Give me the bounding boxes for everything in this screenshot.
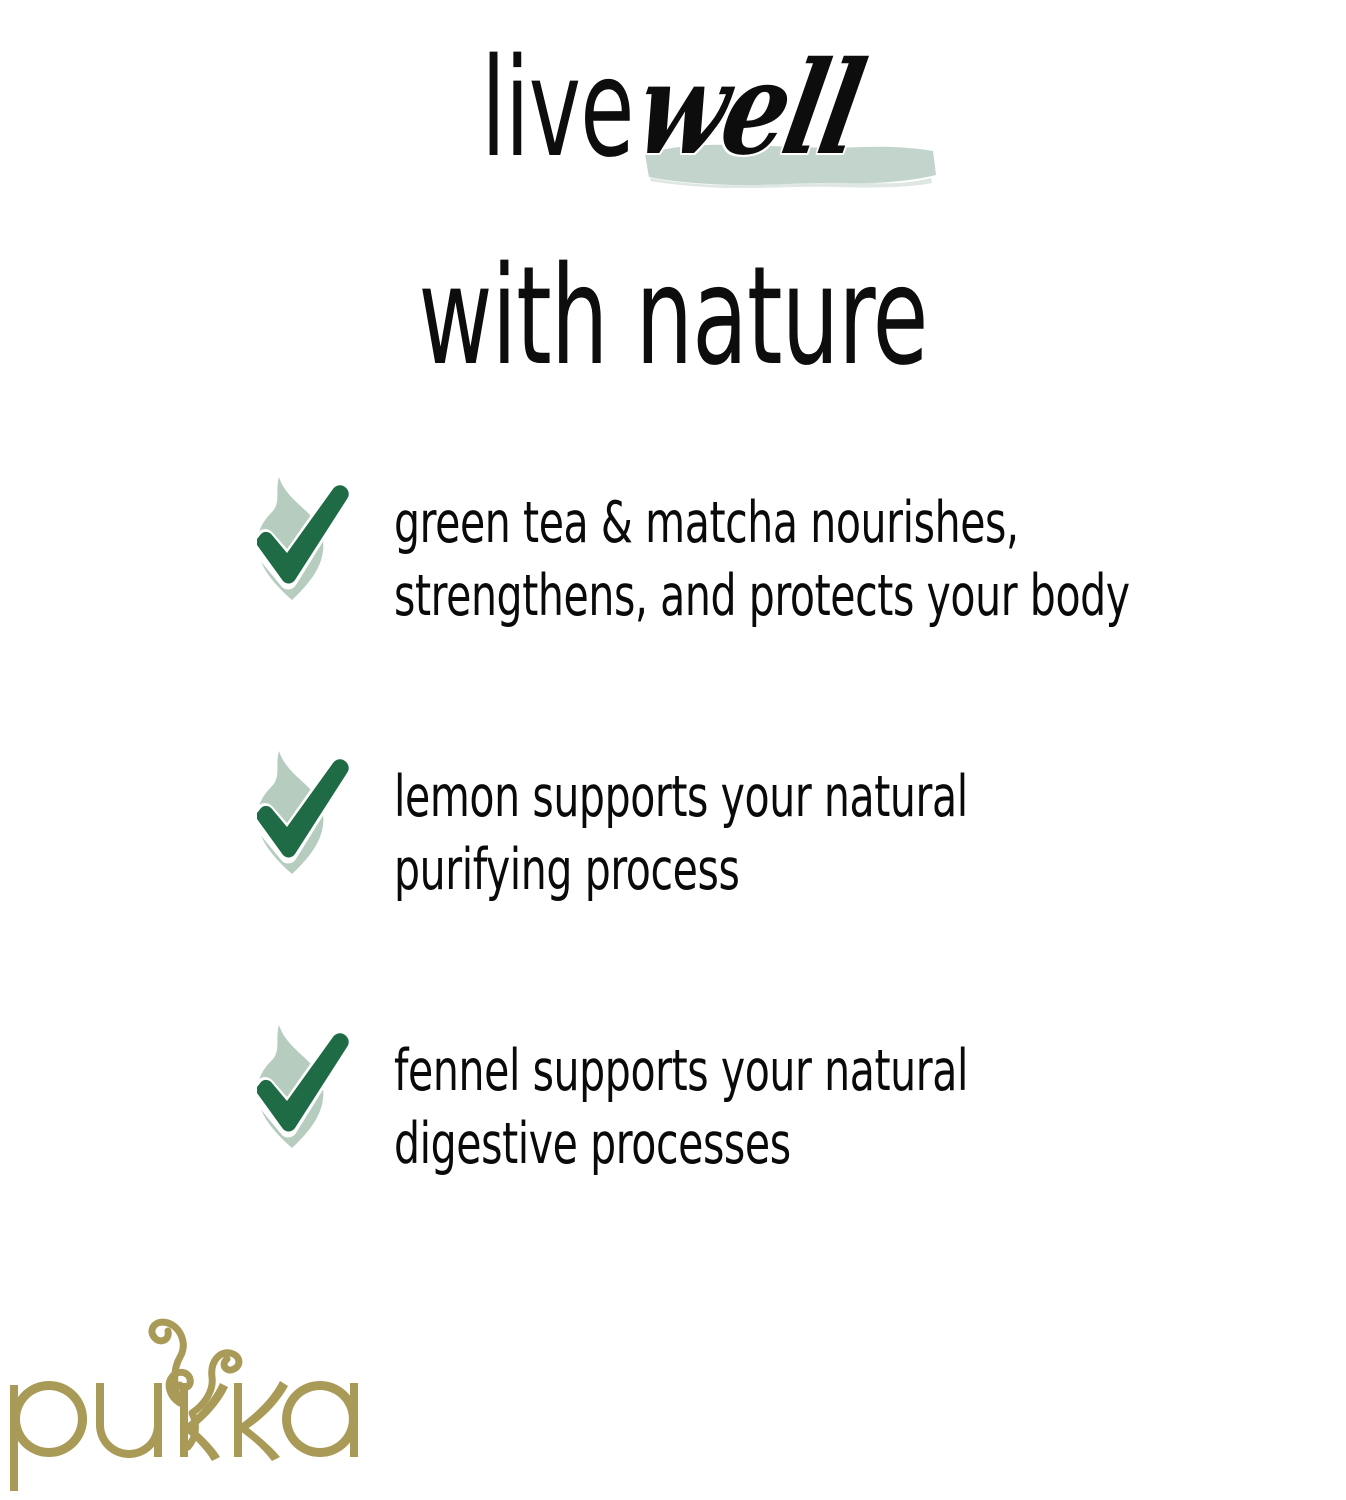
benefit-text-value: fennel supports your natural digestive p… bbox=[394, 1035, 968, 1181]
leaf-check-icon bbox=[222, 733, 372, 883]
benefit-text: fennel supports your natural digestive p… bbox=[394, 1003, 1346, 1181]
headline-word-live: live bbox=[481, 34, 633, 184]
list-item: fennel supports your natural digestive p… bbox=[222, 1003, 1346, 1181]
headline-line-two-text: with nature bbox=[418, 242, 927, 392]
benefit-text: green tea & matcha nourishes, strengthen… bbox=[394, 455, 1346, 633]
benefits-list: green tea & matcha nourishes, strengthen… bbox=[222, 455, 1346, 1181]
leaf-check-icon bbox=[222, 459, 372, 609]
benefit-text-value: green tea & matcha nourishes, strengthen… bbox=[394, 487, 1130, 633]
leaf-check-icon bbox=[222, 1007, 372, 1157]
headline-line-one: live well bbox=[0, 34, 1346, 204]
promo-canvas: live well with nature bbox=[0, 0, 1346, 1500]
headline-block: live well with nature bbox=[0, 34, 1346, 392]
headline-line-two: with nature bbox=[0, 242, 1346, 392]
benefit-text-value: lemon supports your natural purifying pr… bbox=[394, 761, 968, 907]
swirl-flourish-icon bbox=[152, 1322, 239, 1447]
list-item: lemon supports your natural purifying pr… bbox=[222, 729, 1346, 907]
pukka-logo: pukka bbox=[2, 1285, 382, 1500]
headline-word-well: well bbox=[621, 34, 881, 184]
headline-well-group: well bbox=[635, 34, 924, 184]
benefit-text: lemon supports your natural purifying pr… bbox=[394, 729, 1346, 907]
pukka-wordmark bbox=[10, 1381, 358, 1491]
list-item: green tea & matcha nourishes, strengthen… bbox=[222, 455, 1346, 633]
